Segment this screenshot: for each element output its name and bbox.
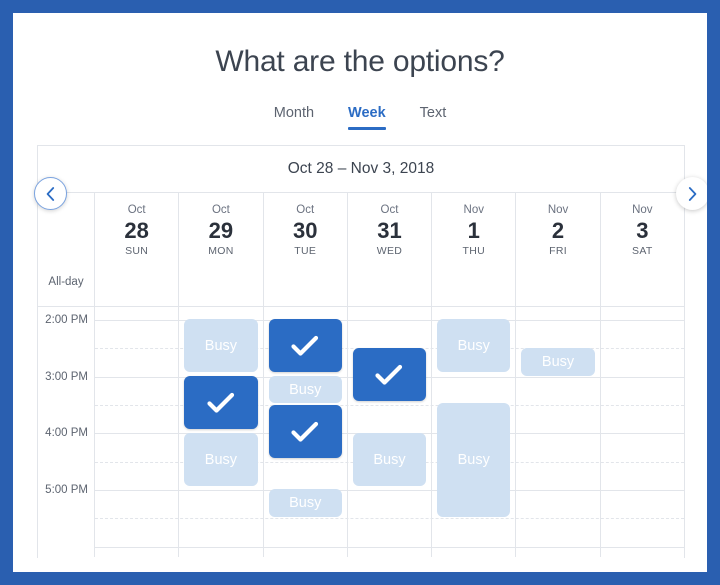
busy-label: Busy xyxy=(458,338,490,354)
day-header-weekday: SUN xyxy=(95,244,178,258)
event-busy-slot[interactable]: Busy xyxy=(184,319,257,372)
tab-text[interactable]: Text xyxy=(420,105,447,130)
day-header-number: 29 xyxy=(179,218,262,244)
event-busy-slot[interactable]: Busy xyxy=(437,403,510,517)
check-icon xyxy=(291,335,319,357)
day-column-mon[interactable]: BusyBusy xyxy=(179,307,263,557)
day-header-thu[interactable]: Nov1THU xyxy=(432,193,516,306)
day-header-month: Oct xyxy=(95,203,178,218)
day-column-sat[interactable] xyxy=(601,307,684,557)
time-label: 3:00 PM xyxy=(45,371,88,383)
event-busy-slot[interactable]: Busy xyxy=(269,489,342,517)
check-icon xyxy=(375,364,403,386)
busy-label: Busy xyxy=(373,452,405,468)
day-column-thu[interactable]: BusyBusy xyxy=(432,307,516,557)
time-grid: 2:00 PM3:00 PM4:00 PM5:00 PM BusyBusyBus… xyxy=(38,307,684,557)
day-header-weekday: SAT xyxy=(601,244,684,258)
busy-label: Busy xyxy=(205,338,237,354)
day-header-month: Oct xyxy=(264,203,347,218)
time-label: 2:00 PM xyxy=(45,314,88,326)
event-selected-slot[interactable] xyxy=(269,319,342,372)
day-header-sun[interactable]: Oct28SUN xyxy=(95,193,179,306)
day-header-number: 30 xyxy=(264,218,347,244)
day-header-month: Nov xyxy=(432,203,515,218)
event-busy-slot[interactable]: Busy xyxy=(184,433,257,486)
check-icon xyxy=(291,421,319,443)
day-header-number: 31 xyxy=(348,218,431,244)
busy-label: Busy xyxy=(458,452,490,468)
allday-label: All-day xyxy=(38,276,94,288)
event-busy-slot[interactable]: Busy xyxy=(269,376,342,403)
time-label: 5:00 PM xyxy=(45,484,88,496)
page-title: What are the options? xyxy=(13,45,707,79)
day-header-weekday: FRI xyxy=(516,244,599,258)
event-selected-slot[interactable] xyxy=(269,405,342,458)
time-gutter: 2:00 PM3:00 PM4:00 PM5:00 PM xyxy=(38,307,95,557)
event-busy-slot[interactable]: Busy xyxy=(437,319,510,372)
day-header-sat[interactable]: Nov3SAT xyxy=(601,193,684,306)
date-range-label: Oct 28 – Nov 3, 2018 xyxy=(288,160,434,178)
day-header-weekday: THU xyxy=(432,244,515,258)
chevron-right-icon xyxy=(688,187,697,201)
day-header-number: 1 xyxy=(432,218,515,244)
day-column-tue[interactable]: BusyBusy xyxy=(264,307,348,557)
busy-label: Busy xyxy=(289,382,321,398)
day-header-number: 28 xyxy=(95,218,178,244)
day-header-number: 3 xyxy=(601,218,684,244)
event-busy-slot[interactable]: Busy xyxy=(521,348,594,376)
day-column-wed[interactable]: Busy xyxy=(348,307,432,557)
event-selected-slot[interactable] xyxy=(184,376,257,429)
day-column-sun[interactable] xyxy=(95,307,179,557)
day-header-fri[interactable]: Nov2FRI xyxy=(516,193,600,306)
tab-month[interactable]: Month xyxy=(274,105,314,130)
app-root: What are the options? Month Week Text Oc… xyxy=(0,0,720,585)
day-column-fri[interactable]: Busy xyxy=(516,307,600,557)
content-card: What are the options? Month Week Text Oc… xyxy=(13,13,707,572)
day-heads: Oct28SUNOct29MONOct30TUEOct31WEDNov1THUN… xyxy=(95,193,684,306)
day-header-wed[interactable]: Oct31WED xyxy=(348,193,432,306)
prev-week-button[interactable] xyxy=(34,177,67,210)
day-header-number: 2 xyxy=(516,218,599,244)
event-selected-slot[interactable] xyxy=(353,348,426,401)
day-header-weekday: WED xyxy=(348,244,431,258)
day-header-month: Oct xyxy=(179,203,262,218)
event-busy-slot[interactable]: Busy xyxy=(353,433,426,486)
busy-label: Busy xyxy=(289,495,321,511)
allday-gutter: All-day xyxy=(38,193,95,306)
chevron-left-icon xyxy=(46,187,55,201)
check-icon xyxy=(207,392,235,414)
day-header-row: All-day Oct28SUNOct29MONOct30TUEOct31WED… xyxy=(38,193,684,307)
busy-label: Busy xyxy=(542,354,574,370)
calendar-date-bar: Oct 28 – Nov 3, 2018 xyxy=(38,146,684,193)
next-week-button[interactable] xyxy=(676,177,707,210)
day-header-month: Nov xyxy=(516,203,599,218)
day-header-month: Nov xyxy=(601,203,684,218)
view-tabs: Month Week Text xyxy=(13,105,707,130)
time-label: 4:00 PM xyxy=(45,427,88,439)
day-columns: BusyBusyBusyBusyBusyBusyBusyBusy xyxy=(95,307,684,557)
day-header-tue[interactable]: Oct30TUE xyxy=(264,193,348,306)
day-header-mon[interactable]: Oct29MON xyxy=(179,193,263,306)
day-header-weekday: MON xyxy=(179,244,262,258)
tab-week[interactable]: Week xyxy=(348,105,386,130)
busy-label: Busy xyxy=(205,452,237,468)
day-header-month: Oct xyxy=(348,203,431,218)
calendar-widget: Oct 28 – Nov 3, 2018 All-day Oct28SUNOct… xyxy=(37,145,685,558)
day-header-weekday: TUE xyxy=(264,244,347,258)
